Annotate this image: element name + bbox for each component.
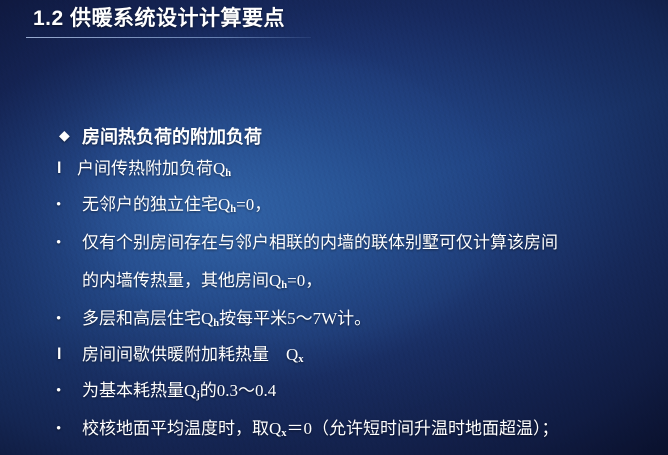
slide-canvas: 1.2 供暖系统设计计算要点 ◆ 房间热负荷的附加负荷 l 户间传热附加负荷Qh… xyxy=(0,0,668,455)
list-item-text-pre: 的内墙传热量，其他房间Q xyxy=(82,271,281,290)
list-item-text: 的内墙传热量，其他房间Qh=0， xyxy=(82,262,322,303)
bar-bullet-icon: l xyxy=(57,152,61,186)
diamond-bullet-icon: ◆ xyxy=(59,122,70,152)
list-item-text-post: =0， xyxy=(287,271,322,290)
content-heading: ◆ 房间热负荷的附加负荷 xyxy=(0,122,668,152)
list-item-continuation: 的内墙传热量，其他房间Qh=0， xyxy=(0,262,668,300)
list-item-text: 房间间歇供暖附加耗热量 Qx xyxy=(82,338,304,375)
list-item-text-pre: 房间间歇供暖附加耗热量 Q xyxy=(82,345,298,364)
list-item-text: 仅有个别房间存在与邻户相联的内墙的联体别墅可仅计算该房间 xyxy=(82,224,558,265)
list-item: • 无邻户的独立住宅Qh=0， xyxy=(0,186,668,224)
list-item-text-post: =0， xyxy=(236,195,271,214)
list-item: l 户间传热附加负荷Qh xyxy=(0,152,668,186)
list-item-text-post: 按每平米5〜7W计。 xyxy=(219,309,371,328)
list-item-text: 多层和高层住宅Qh按每平米5〜7W计。 xyxy=(82,300,371,341)
dot-bullet-icon: • xyxy=(56,300,61,338)
list-item: • 仅有个别房间存在与邻户相联的内墙的联体别墅可仅计算该房间 xyxy=(0,224,668,262)
page-title: 1.2 供暖系统设计计算要点 xyxy=(33,5,285,32)
content-heading-label: 房间热负荷的附加负荷 xyxy=(82,122,262,152)
list-item-text-pre: 为基本耗热量Q xyxy=(82,381,196,400)
dot-bullet-icon: • xyxy=(56,410,61,448)
list-item-subscript: h xyxy=(213,318,219,329)
list-item: l 房间间歇供暖附加耗热量 Qx xyxy=(0,338,668,372)
list-item: • 校核地面平均温度时，取Qx＝0（允许短时间升温时地面超温）； xyxy=(0,410,668,448)
list-item-text-post: ＝0（允许短时间升温时地面超温）； xyxy=(287,419,559,438)
dot-bullet-icon: • xyxy=(56,186,61,224)
dot-bullet-icon: • xyxy=(56,372,61,410)
list-item-text-pre: 多层和高层住宅Q xyxy=(82,309,213,328)
list-item-text-pre: 校核地面平均温度时，取Q xyxy=(82,419,281,438)
list-item-text-pre: 仅有个别房间存在与邻户相联的内墙的联体别墅可仅计算该房间 xyxy=(82,233,558,252)
list-item-text-post: 的0.3〜0.4 xyxy=(200,381,277,400)
bar-bullet-icon: l xyxy=(57,338,61,372)
list-item-text-pre: 无邻户的独立住宅Q xyxy=(82,195,230,214)
list-item-text: 校核地面平均温度时，取Qx＝0（允许短时间升温时地面超温）； xyxy=(82,410,559,451)
list-item-subscript: x xyxy=(298,354,303,365)
list-item-subscript: j xyxy=(196,390,200,401)
title-underline-rule xyxy=(26,37,311,38)
list-item-subscript: x xyxy=(281,428,286,439)
slide-body: ◆ 房间热负荷的附加负荷 l 户间传热附加负荷Qh • 无邻户的独立住宅Qh=0… xyxy=(0,122,668,448)
dot-bullet-icon: • xyxy=(56,224,61,262)
list-item-subscript: h xyxy=(230,204,236,215)
list-item-text-pre: 户间传热附加负荷Q xyxy=(77,159,225,178)
list-item-subscript: h xyxy=(281,280,287,291)
list-item: • 为基本耗热量Qj的0.3〜0.4 xyxy=(0,372,668,410)
slide-header: 1.2 供暖系统设计计算要点 xyxy=(0,0,668,44)
list-item-text: 无邻户的独立住宅Qh=0， xyxy=(82,186,271,227)
list-item-subscript: h xyxy=(225,168,231,179)
list-item: • 多层和高层住宅Qh按每平米5〜7W计。 xyxy=(0,300,668,338)
list-item-text: 为基本耗热量Qj的0.3〜0.4 xyxy=(82,372,276,413)
list-item-text: 户间传热附加负荷Qh xyxy=(77,152,231,189)
